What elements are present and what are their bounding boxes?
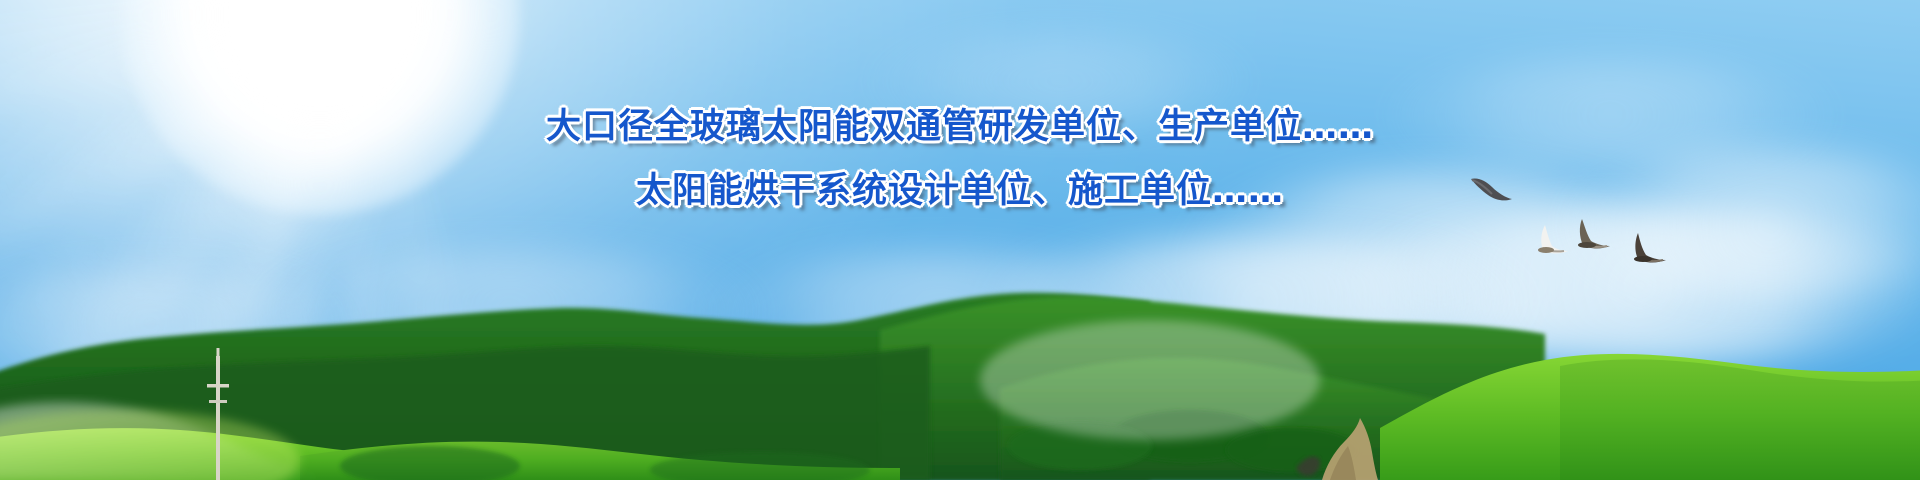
cloud xyxy=(1380,60,1840,170)
bird-icon xyxy=(1568,218,1612,252)
bird-icon xyxy=(1528,224,1570,258)
hill-sunlight-wash xyxy=(980,320,1320,440)
utility-pole-icon xyxy=(205,348,231,480)
hills-landscape xyxy=(0,260,1920,480)
cloud xyxy=(860,36,1260,126)
bird-icon xyxy=(1468,176,1514,206)
hero-banner: 大口径全玻璃太阳能双通管研发单位、生产单位…… 太阳能烘干系统设计单位、施工单位… xyxy=(0,0,1920,480)
